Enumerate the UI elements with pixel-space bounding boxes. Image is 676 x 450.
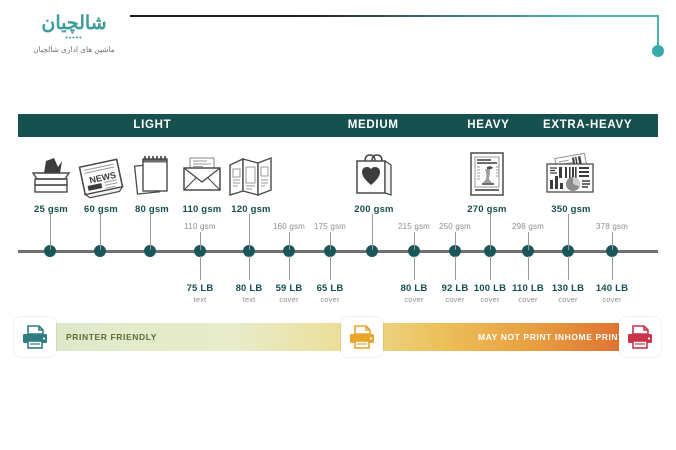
axis-stem-down: [490, 256, 491, 280]
axis-stem-up: [414, 232, 415, 250]
category-label-extra-heavy: EXTRA-HEAVY: [518, 114, 658, 137]
axis-stem-up: [100, 214, 101, 250]
axis-stem-down: [330, 256, 331, 280]
paper-item-270-gsm: 270 gsm: [450, 147, 524, 215]
axis-stem-up: [528, 232, 529, 250]
axis-stem-up: [372, 214, 373, 250]
axis-stem-down: [455, 256, 456, 280]
brochure-icon: [214, 147, 288, 199]
logo-dots-decoration: •••••: [14, 35, 134, 42]
axis-stem-up: [455, 232, 456, 250]
axis-gsm-secondary-label: 378 gsm: [577, 222, 647, 231]
axis-gsm-secondary-label: 298 gsm: [493, 222, 563, 231]
axis-stem-down: [414, 256, 415, 280]
axis-stem-down: [568, 256, 569, 280]
axis-stem-down: [612, 256, 613, 280]
report-cards-icon: [534, 147, 608, 199]
poster-icon: [450, 147, 524, 199]
axis-stem-up: [249, 214, 250, 250]
axis-gsm-secondary-label: 250 gsm: [420, 222, 490, 231]
axis-stem-up: [490, 214, 491, 250]
printer-not-recommended-icon: [625, 324, 655, 350]
axis-gsm-secondary-label: 110 gsm: [165, 222, 235, 231]
axis-stem-up: [50, 214, 51, 250]
axis-stem-down: [200, 256, 201, 280]
printer-friendly-label: PRINTER FRIENDLY: [66, 323, 157, 351]
paper-gsm-label: 270 gsm: [450, 204, 524, 215]
pound-weight-grade: cover: [577, 295, 647, 304]
header-rule-elbow: [657, 15, 659, 48]
paper-gsm-label: 120 gsm: [214, 204, 288, 215]
axis-stem-down: [289, 256, 290, 280]
header-rule-endpoint-dot: [652, 45, 664, 57]
shopping-bag-icon: [337, 147, 411, 199]
axis-stem-up: [330, 232, 331, 250]
printer-not-supported-icon-badge: [619, 317, 661, 357]
axis-stem-up: [150, 214, 151, 250]
pound-weight-value: 140 LB: [577, 283, 647, 294]
paper-item-350-gsm: 350 gsm: [534, 147, 608, 215]
paper-item-200-gsm: 200 gsm: [337, 147, 411, 215]
printer-friendly-icon-badge: [14, 317, 56, 357]
axis-pound-weight-block: 65 LBcover: [295, 283, 365, 304]
axis-pound-weight-block: 140 LBcover: [577, 283, 647, 304]
logo-subtitle: ماشین های اداری شالچیان: [14, 45, 134, 55]
printer-friendly-icon: [20, 324, 50, 350]
axis-stem-up: [289, 232, 290, 250]
paper-gsm-label: 350 gsm: [534, 204, 608, 215]
axis-stem-up: [568, 214, 569, 250]
header-gradient-rule: [130, 15, 659, 17]
paper-gsm-label: 200 gsm: [337, 204, 411, 215]
may-not-print-label: MAY NOT PRINT INHOME PRINTER: [478, 323, 637, 351]
company-logo: شالچیان ••••• ماشین های اداری شالچیان: [14, 14, 134, 55]
weight-category-bar: LIGHTMEDIUMHEAVYEXTRA-HEAVY: [18, 114, 658, 137]
category-label-light: LIGHT: [82, 114, 222, 137]
paper-item-120-gsm: 120 gsm: [214, 147, 288, 215]
axis-stem-up: [200, 232, 201, 250]
printer-caution-icon-badge: [341, 317, 383, 357]
logo-wordmark: شالچیان: [14, 14, 134, 34]
printer-caution-icon: [347, 324, 377, 350]
axis-stem-down: [249, 256, 250, 280]
pound-weight-value: 65 LB: [295, 283, 365, 294]
brand-header: شالچیان ••••• ماشین های اداری شالچیان: [0, 0, 676, 70]
axis-gsm-secondary-label: 175 gsm: [295, 222, 365, 231]
axis-stem-down: [528, 256, 529, 280]
pound-weight-grade: cover: [295, 295, 365, 304]
axis-stem-up: [612, 232, 613, 250]
